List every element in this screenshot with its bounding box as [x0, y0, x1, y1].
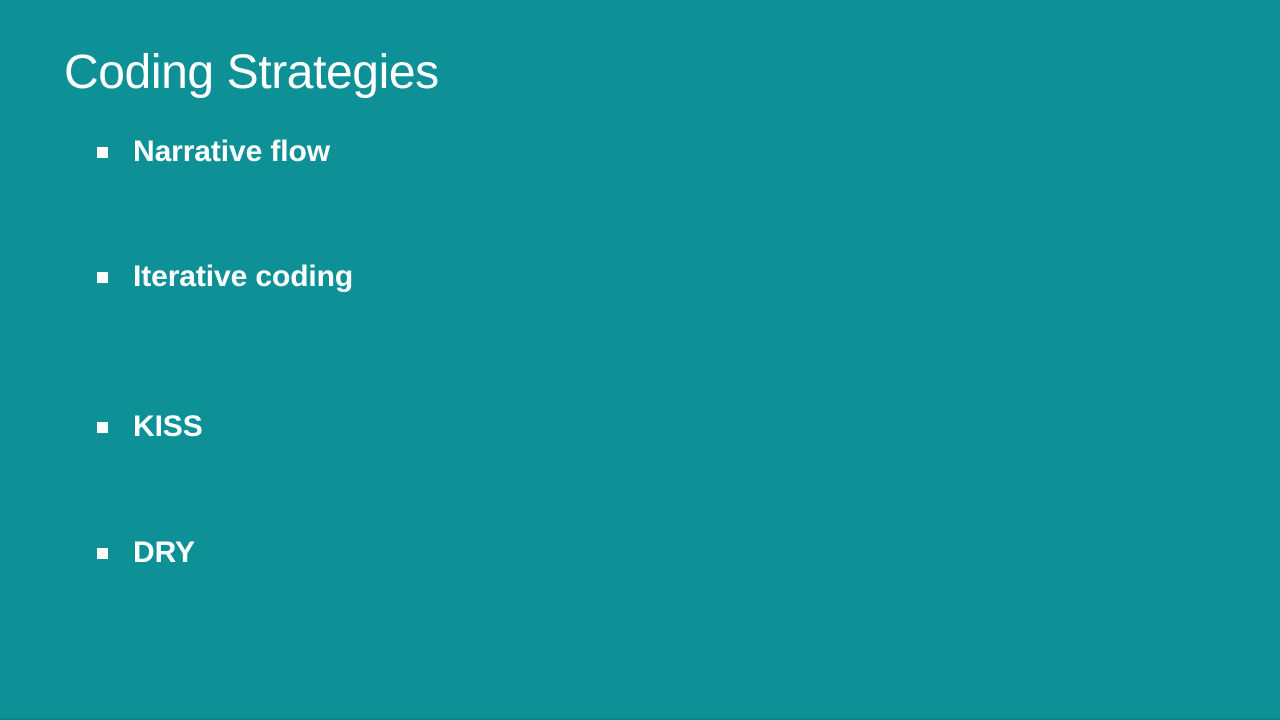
square-bullet-icon	[97, 272, 108, 283]
presentation-slide: Coding Strategies Narrative flow Iterati…	[0, 0, 1280, 720]
square-bullet-icon	[97, 548, 108, 559]
list-item[interactable]: Narrative flow	[64, 132, 1204, 172]
square-bullet-icon	[97, 147, 108, 158]
list-item-label: KISS	[133, 407, 203, 447]
list-item-label: Iterative coding	[133, 257, 353, 297]
list-item[interactable]: DRY	[64, 533, 1204, 573]
square-bullet-icon	[97, 422, 108, 433]
slide-title: Coding Strategies	[64, 44, 439, 102]
list-item[interactable]: Iterative coding	[64, 257, 1204, 297]
list-item[interactable]: KISS	[64, 407, 1204, 447]
list-item-label: DRY	[133, 533, 195, 573]
bullet-list: Narrative flow Iterative coding KISS DRY	[64, 132, 1204, 573]
list-item-label: Narrative flow	[133, 132, 330, 172]
